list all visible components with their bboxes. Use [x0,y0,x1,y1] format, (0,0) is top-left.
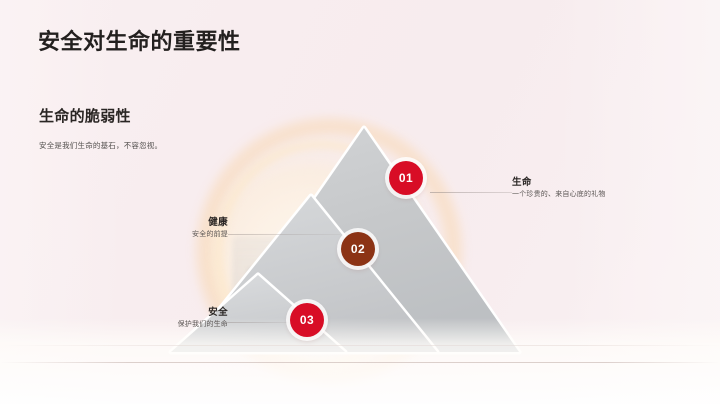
floor-line-lower [0,362,720,363]
callout-health-title: 健康 [104,216,228,229]
callout-health[interactable]: 健康 安全的前提 [104,216,228,240]
badge-03[interactable]: 03 [290,303,324,337]
leader-line-01 [430,192,512,193]
page-title: 安全对生命的重要性 [38,24,241,56]
slide-canvas: 安全对生命的重要性 生命的脆弱性 安全是我们生命的基石，不容忽视。 生命 一个珍… [0,0,720,404]
callout-health-desc: 安全的前提 [104,229,228,240]
section-lede: 安全是我们生命的基石，不容忽视。 [39,140,162,151]
callout-safety[interactable]: 安全 保护我们的生命 [104,306,228,330]
section-subtitle: 生命的脆弱性 [39,105,131,126]
callout-life-title: 生命 [512,176,606,189]
floor-line-upper [0,345,720,346]
callout-life-desc: 一个珍贵的、来自心底的礼物 [512,189,606,200]
badge-02[interactable]: 02 [341,232,375,266]
callout-safety-title: 安全 [104,306,228,319]
floor-fade [0,318,720,404]
callout-safety-desc: 保护我们的生命 [104,319,228,330]
badge-01[interactable]: 01 [389,161,423,195]
leader-line-02 [228,234,340,235]
leader-line-03 [228,322,290,323]
callout-life[interactable]: 生命 一个珍贵的、来自心底的礼物 [512,176,606,200]
